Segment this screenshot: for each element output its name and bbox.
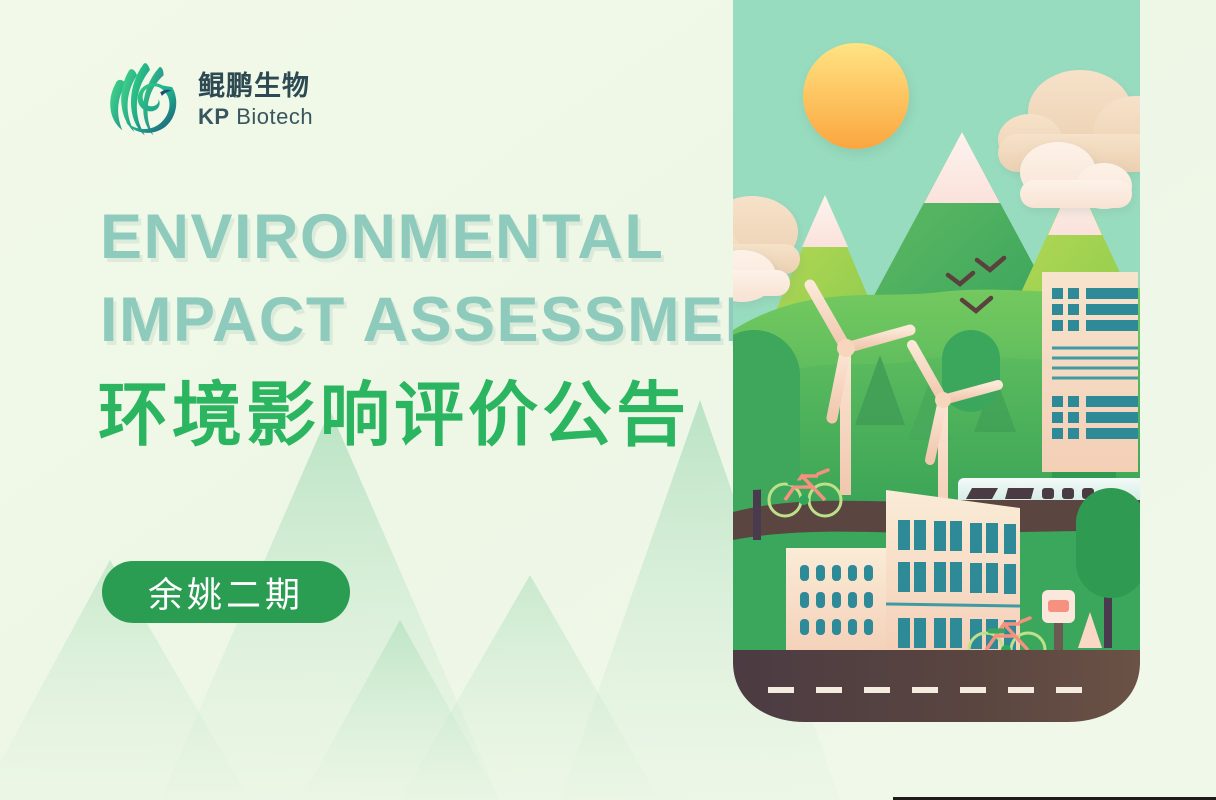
company-name-en: KP Biotech <box>198 104 313 130</box>
company-name-cn: 鲲鹏生物 <box>198 71 313 102</box>
company-name-en-bold: KP <box>198 104 230 129</box>
status-badge[interactable]: 余姚二期 <box>102 561 350 623</box>
phoenix-swirl-logo-icon <box>100 58 186 144</box>
company-name-en-light: Biotech <box>236 104 313 129</box>
eco-city-illustration <box>690 0 1216 800</box>
sun-icon <box>803 43 909 149</box>
page-title-cn: 环境影响评价公告 <box>98 372 690 460</box>
apartment-block <box>786 548 886 666</box>
banner-root: 鲲鹏生物 KP Biotech ENVIRONMENTAL IMPACT ASS… <box>0 0 1216 800</box>
brand-logo[interactable]: 鲲鹏生物 KP Biotech <box>100 58 313 144</box>
road-platform <box>733 650 1140 722</box>
office-tower <box>1042 272 1138 472</box>
brand-text: 鲲鹏生物 KP Biotech <box>198 71 313 130</box>
